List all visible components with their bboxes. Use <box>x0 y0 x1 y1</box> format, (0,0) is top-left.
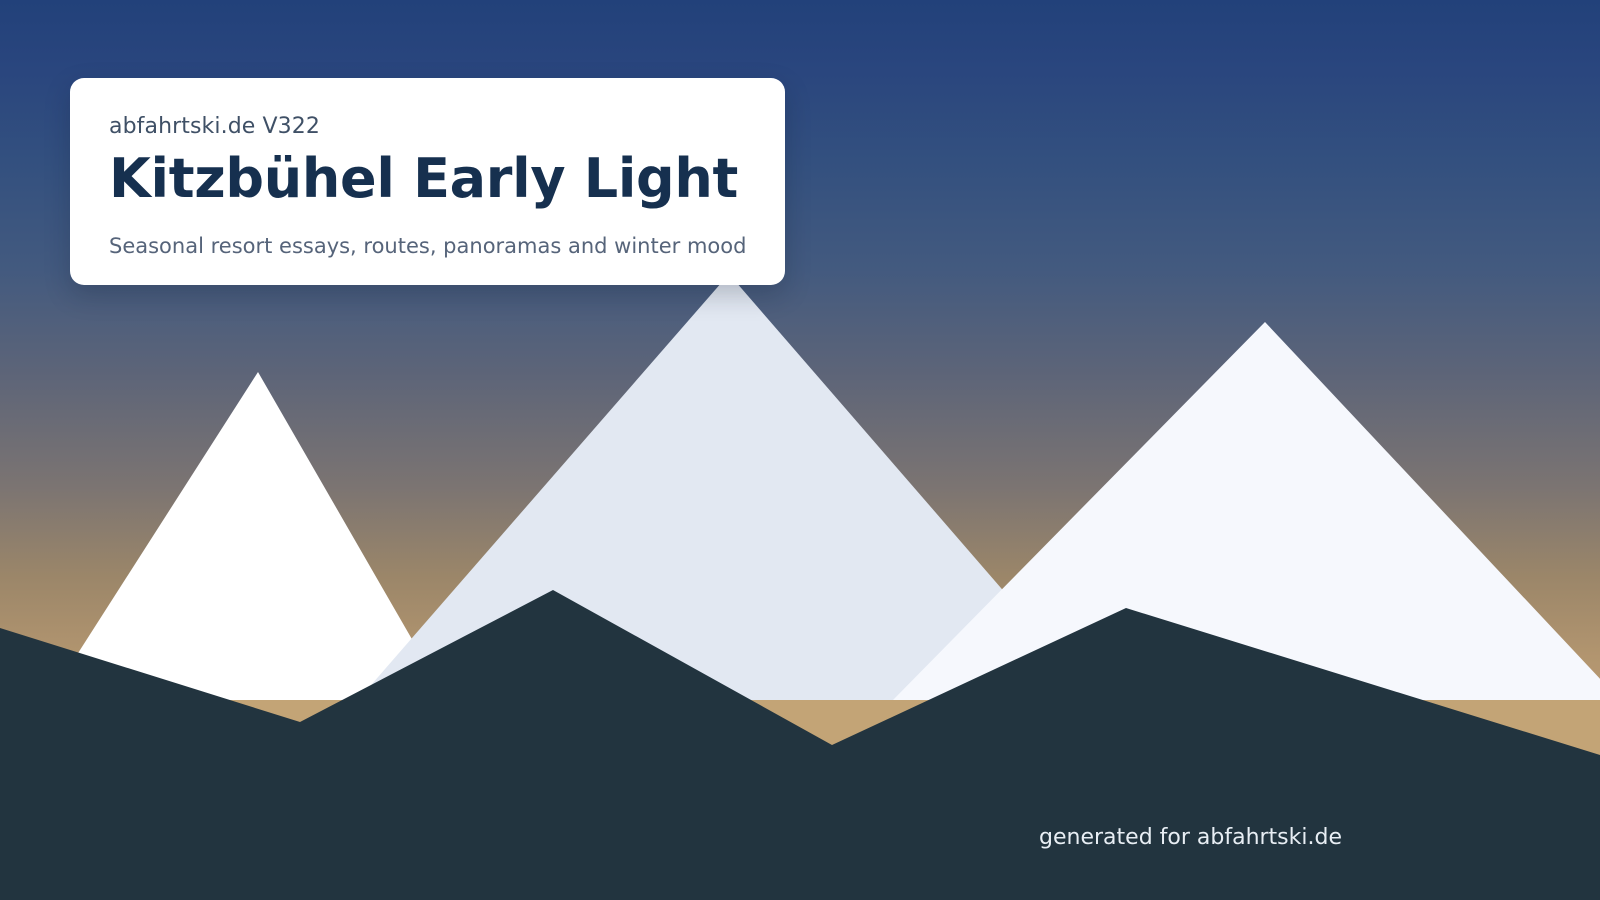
generated-for-footer: generated for abfahrtski.de <box>1039 824 1342 852</box>
page-title: Kitzbühel Early Light <box>109 148 1270 210</box>
peak-left-shape <box>48 372 447 700</box>
peak-right-shape <box>893 322 1600 700</box>
poster-canvas: abfahrtski.de V322 Kitzbühel Early Light… <box>0 0 1600 900</box>
brand-version-label: abfahrtski.de V322 <box>109 114 1270 140</box>
page-subtitle: Seasonal resort essays, routes, panorama… <box>109 233 1270 259</box>
